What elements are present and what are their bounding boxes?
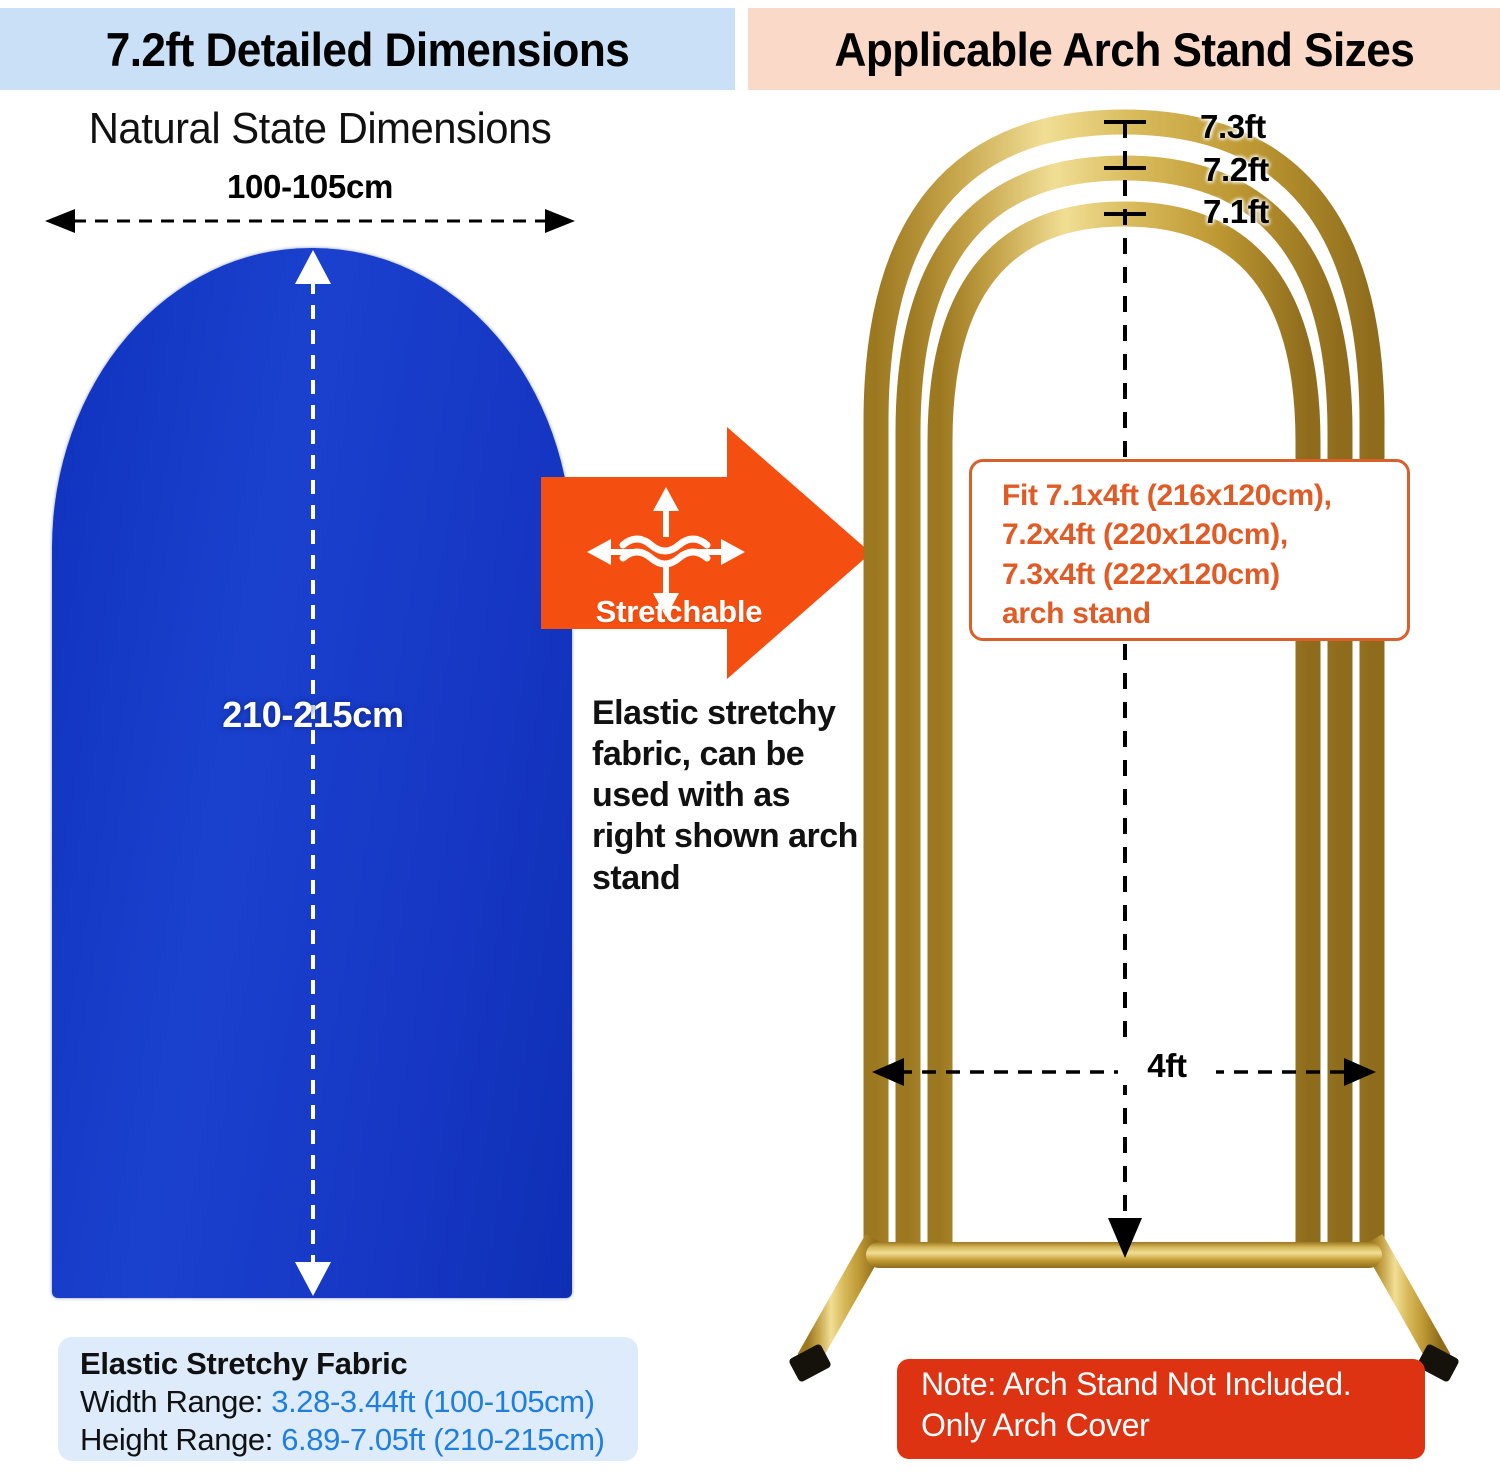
fabric-height-range-row: Height Range: 6.89-7.05ft (210-215cm): [80, 1421, 638, 1459]
fabric-width-range-row: Width Range: 3.28-3.44ft (100-105cm): [80, 1383, 638, 1421]
note-not-included-box: Note: Arch Stand Not Included. Only Arch…: [897, 1359, 1425, 1459]
arch-height-label-73: 7.3ft: [1200, 108, 1266, 146]
arch-height-label-72: 7.2ft: [1203, 151, 1269, 189]
fit-line-3: 7.3x4ft (222x120cm): [1002, 555, 1407, 594]
note-line-2: Only Arch Cover: [921, 1405, 1425, 1446]
fabric-height-range-value: 6.89-7.05ft (210-215cm): [281, 1422, 604, 1457]
gold-arch-stand-illustration: [748, 92, 1500, 1402]
height-dimension-label: 210-215cm: [110, 694, 516, 736]
fit-line-4: arch stand: [1002, 594, 1407, 633]
fit-sizes-callout-box: Fit 7.1x4ft (216x120cm), 7.2x4ft (220x12…: [969, 459, 1410, 641]
height-dimension-arrow-icon: [268, 250, 358, 1296]
fit-line-1: Fit 7.1x4ft (216x120cm),: [1002, 476, 1407, 515]
fabric-box-title: Elastic Stretchy Fabric: [80, 1345, 638, 1383]
fabric-height-range-prefix: Height Range:: [80, 1422, 281, 1457]
fit-line-2: 7.2x4ft (220x120cm),: [1002, 515, 1407, 554]
arch-width-label: 4ft: [1118, 1047, 1216, 1085]
natural-state-subtitle: Natural State Dimensions: [16, 104, 624, 154]
arch-height-label-71: 7.1ft: [1203, 193, 1269, 231]
elastic-fabric-info-box: Elastic Stretchy Fabric Width Range: 3.2…: [58, 1337, 638, 1461]
fabric-width-range-prefix: Width Range:: [80, 1384, 271, 1419]
fabric-width-range-value: 3.28-3.44ft (100-105cm): [271, 1384, 594, 1419]
note-line-1: Note: Arch Stand Not Included.: [921, 1364, 1425, 1405]
width-dimension-arrow-icon: [45, 208, 575, 234]
width-dimension-label: 100-105cm: [0, 168, 620, 206]
